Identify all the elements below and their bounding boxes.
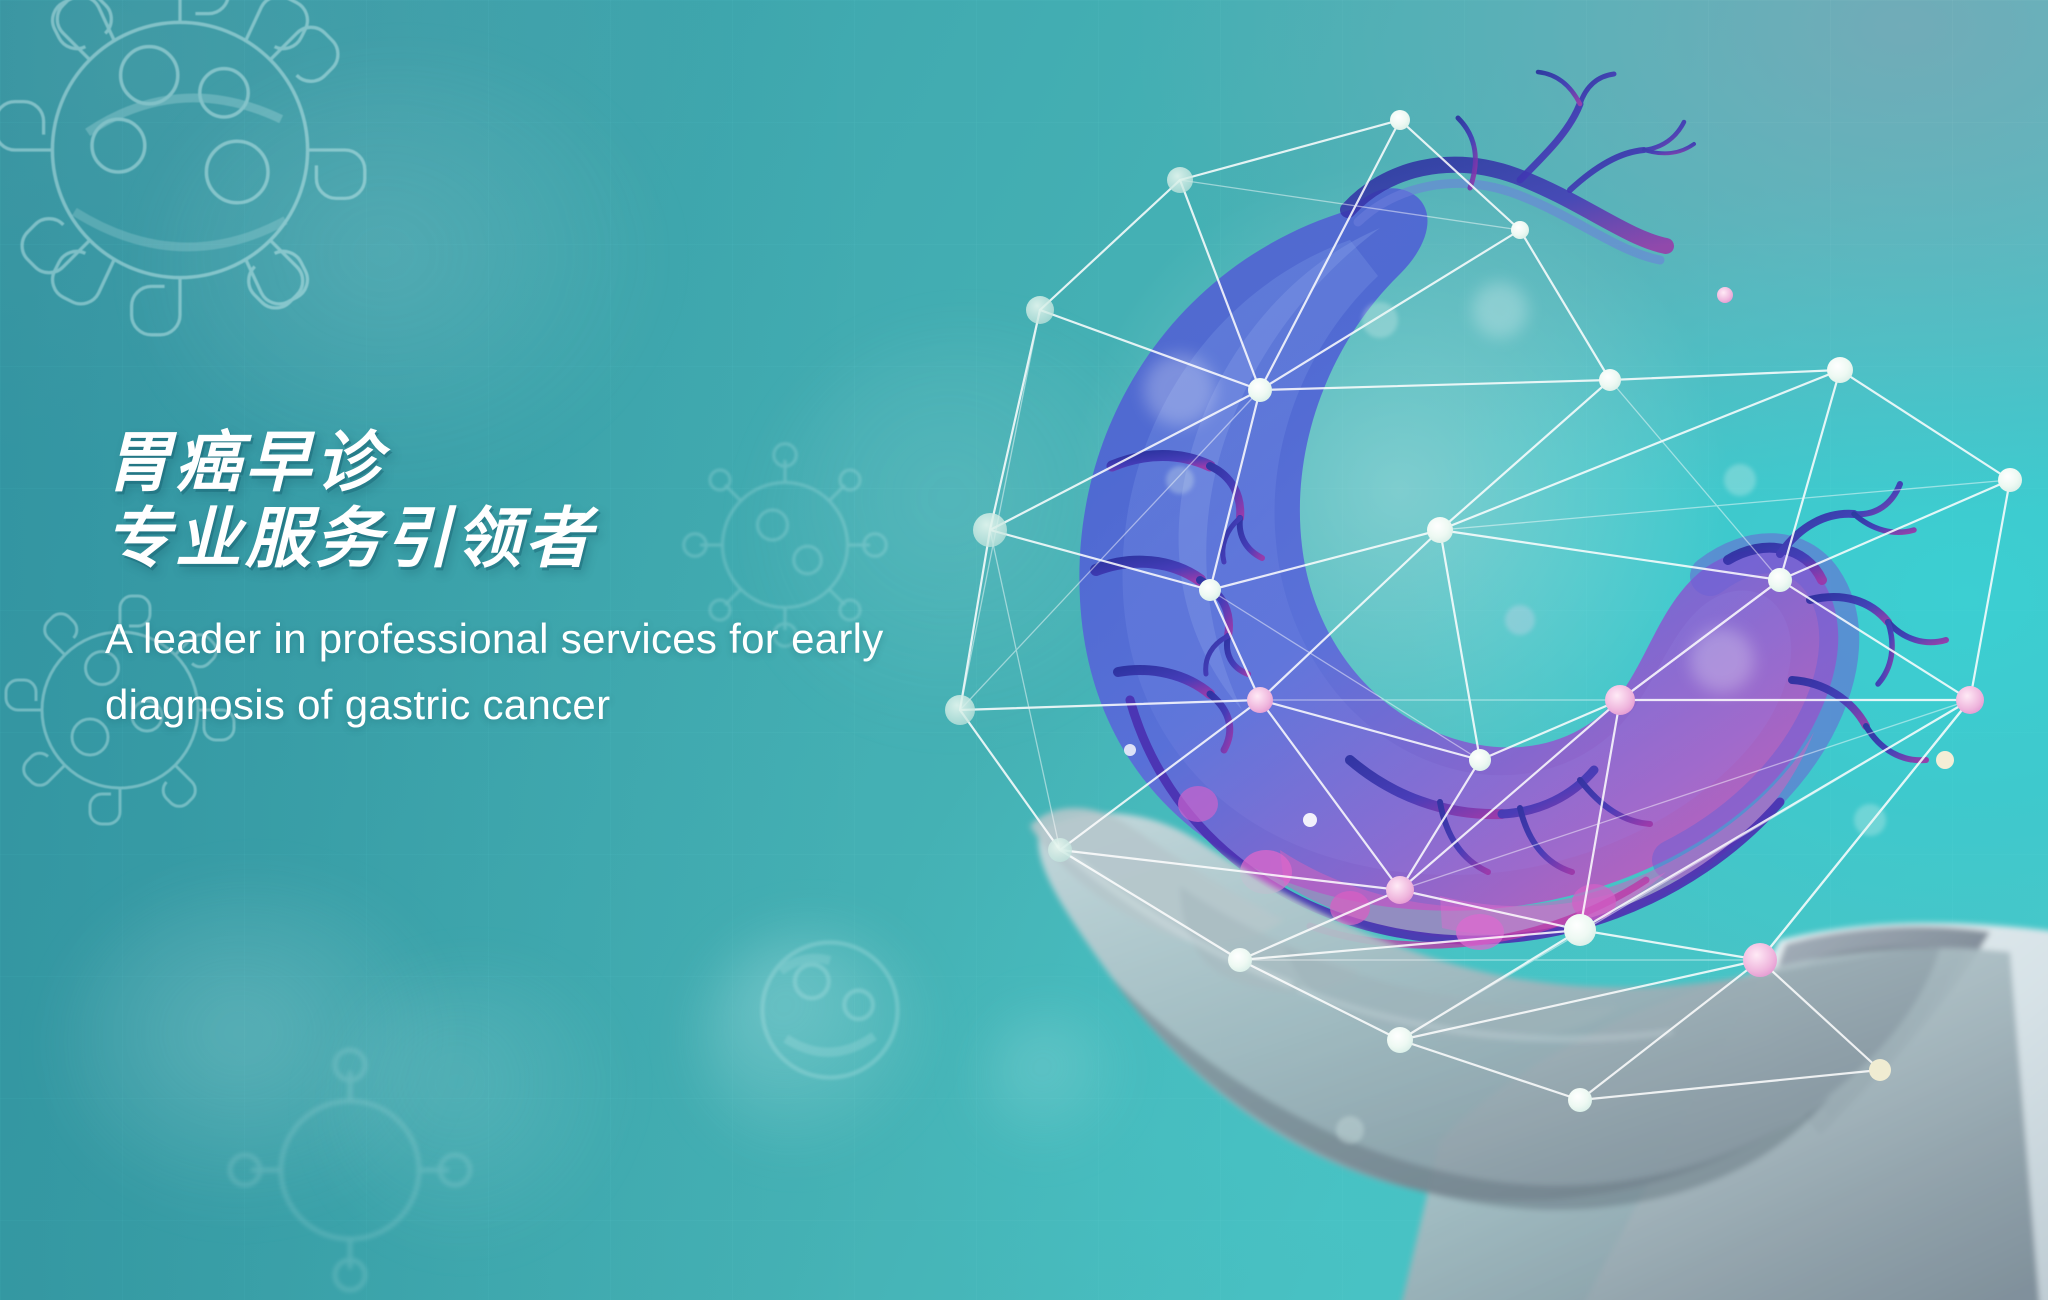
gastric-cancer-hero-banner: 胃癌早诊 专业服务引领者 A leader in professional se… <box>0 0 2048 1300</box>
subtitle-line-1: A leader in professional services for ea… <box>105 606 1105 672</box>
subtitle-line-2: diagnosis of gastric cancer <box>105 672 1105 738</box>
subtitle-block: A leader in professional services for ea… <box>105 606 1105 738</box>
headline-line-1: 胃癌早诊 <box>105 424 1105 500</box>
hero-copy-block: 胃癌早诊 专业服务引领者 A leader in professional se… <box>105 424 1105 738</box>
headline-line-2: 专业服务引领者 <box>105 500 1105 576</box>
